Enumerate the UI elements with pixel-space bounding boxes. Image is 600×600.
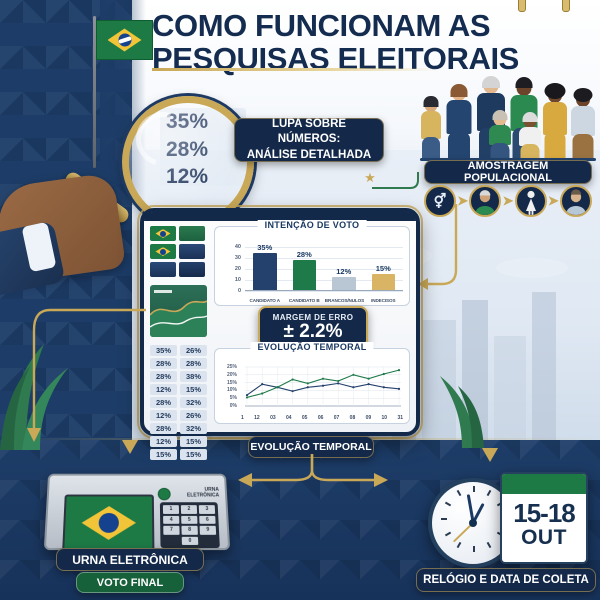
data-point [246,394,248,396]
line-x-tick: 04 [286,415,292,421]
thumbnail-dark-1[interactable] [179,262,205,277]
arrow-down-clock [478,448,502,474]
table-cell: 28% [150,397,177,408]
clock-tick [487,490,492,496]
bar-category-label: CANDIDATO B [285,298,323,303]
data-table: 35% 26% 28% 28% 28% 38% 12% 15% 28% 32% … [150,345,208,460]
urna-key[interactable]: 0 [182,536,199,545]
line-chart-y-tick: 10% [217,387,237,393]
urna-flag-globe [98,513,118,533]
data-point [398,369,400,371]
urna-key[interactable]: 9 [200,526,217,535]
urna-key[interactable]: 7 [163,526,179,535]
bar-chart-card: INTENÇÃO DE VOTO 010203040 35%28%12%15% … [214,226,410,306]
bar-category-label: INDECISOS [364,298,402,303]
line-x-tick: 12 [254,415,260,421]
clock-tick [441,518,447,520]
table-cell: 28% [150,371,177,382]
urna-key[interactable]: 3 [199,505,215,513]
data-point [261,383,263,385]
data-point [307,382,309,384]
data-point [261,392,263,394]
data-point [322,378,324,380]
bar-category-label: CANDIDATO A [246,298,284,303]
bar-value-label: 28% [297,250,312,259]
thumbnail-navy-1[interactable] [179,244,205,259]
line-x-tick: 03 [270,415,276,421]
line-chart-title: EVOLUÇÃO TEMPORAL [250,342,373,352]
connector-magnifier-to-sampling [370,168,436,194]
callout-magnifier-line-2: ANÁLISE DETALHADA [247,148,371,164]
electronic-voting-machine: URNA ELETRÔNICA 1234567890 [40,462,230,550]
arrow-sampling-to-tablet [416,200,460,296]
bar-chart-y-tick: 10 [223,277,241,283]
bar-chart-y-tick: 20 [223,266,241,272]
clock-tick [445,502,451,507]
data-point [352,386,354,388]
bar [372,274,396,290]
thumbnail-green-1[interactable] [179,226,205,241]
bar-series: 35%28%12%15% [245,242,403,291]
bar-chart-y-tick: 40 [223,244,241,250]
clock-tick [487,542,492,548]
line-x-tick: 08 [350,415,356,421]
data-point [276,386,278,388]
bar [293,260,317,290]
bar-item: 12% [325,242,363,290]
data-point [292,390,294,392]
sampling-arrow-3: ➤ [548,193,559,209]
table-cell: 15% [150,449,177,460]
line-chart-card: EVOLUÇÃO TEMPORAL 0%5%10%15%20%25% 11203… [214,348,410,424]
bar-item: 28% [285,242,323,290]
urna-brand-line-2: ELETRÔNICA [160,493,220,499]
bar-value-label: 15% [376,264,391,273]
person-2 [446,86,472,160]
gridline [245,291,403,292]
calendar-ring-right [562,0,570,12]
population-group-illustration [420,72,596,160]
bar-category-label: BRANCOS/NULOS [325,298,363,303]
thumbnail-grid [150,226,208,277]
line-chart-plot: 0%5%10%15%20%25% [241,363,403,410]
data-point [337,382,339,384]
brazil-flag-icon [96,20,153,60]
data-point [368,378,370,380]
urna-key[interactable]: 6 [199,515,215,523]
callout-voto-final-label: VOTO FINAL [97,577,163,589]
bar-chart-title: INTENÇÃO DE VOTO [258,220,367,230]
table-cell: 26% [180,410,207,421]
urna-key[interactable]: 1 [163,505,179,513]
line-chart-y-tick: 15% [217,380,237,386]
data-point [352,374,354,376]
callout-voto-final: VOTO FINAL [76,572,184,593]
calendar-ring-left [518,0,526,12]
data-point [292,378,294,380]
line-chart-x-labels: 112030405060708091031 [241,415,403,421]
calendar-icon: 15-18 OUT [500,472,588,564]
line-x-tick: 31 [397,415,403,421]
line-chart-svg [241,363,403,410]
calendar-header [502,474,586,494]
table-cell: 38% [180,371,207,382]
line-chart-y-tick: 20% [217,372,237,378]
arrow-tablet-to-urna [20,300,150,460]
table-cell: 35% [150,345,177,356]
callout-clock: RELÓGIO E DATA DE COLETA [416,568,596,592]
urna-body: URNA ELETRÔNICA 1234567890 [44,474,230,550]
clock-center-pin [469,519,477,527]
child-1 [488,112,512,160]
urna-keypad[interactable]: 1234567890 [160,502,220,548]
table-cell: 15% [180,436,207,447]
child-2 [518,114,542,160]
bar-chart-y-tick: 0 [223,288,241,294]
callout-magnifier-line-1: LUPA SOBRE NÚMEROS: [241,117,377,148]
page-title: COMO FUNCIONAM AS PESQUISAS ELEITORAIS [152,10,592,76]
line-chart-y-tick: 5% [217,395,237,401]
line-x-tick: 06 [318,415,324,421]
bar-item: 35% [246,242,284,290]
clock-tick [457,542,462,548]
clock-tick [445,532,451,537]
data-point [337,380,339,382]
bar-chart-y-tick: 30 [223,255,241,261]
table-cell: 28% [180,358,207,369]
line-x-tick: 1 [241,415,244,421]
thumbnail-navy-2[interactable] [150,262,176,277]
title-line-1: COMO FUNCIONAM AS [152,10,592,43]
bar-chart-category-labels: CANDIDATO ACANDIDATO BBRANCOS/NULOSINDEC… [245,298,403,303]
person-avatar-icon [560,185,592,217]
bar-chart-plot: 010203040 35%28%12%15% [245,242,403,291]
calendar-month: OUT [502,527,586,548]
urna-key[interactable]: 2 [181,505,197,513]
clock-tick [473,486,475,492]
title-underline [152,68,440,71]
table-cell: 28% [150,423,177,434]
data-point [383,386,385,388]
callout-sampling-label: AMOSTRAGEM POPULACIONAL [425,160,591,184]
table-cell: 26% [180,345,207,356]
thumbnail-flag-2[interactable] [150,244,176,259]
table-cell: 12% [150,410,177,421]
callout-magnifier: LUPA SOBRE NÚMEROS: ANÁLISE DETALHADA [234,118,384,162]
arrow-tablet-to-clock [238,452,388,492]
person-1 [420,98,442,160]
line-chart-y-tick: 0% [217,403,237,409]
bar [253,253,277,290]
table-cell: 32% [180,423,207,434]
line-x-tick: 10 [382,415,388,421]
table-cell: 15% [180,384,207,395]
table-cell: 15% [180,449,207,460]
callout-urna-label: URNA ELETRÔNICA [72,553,188,567]
clock-tick [457,490,462,496]
data-point [322,385,324,387]
data-point [383,373,385,375]
sampling-arrow-2: ➤ [503,193,514,209]
woman-figure-icon [515,185,547,217]
person-5 [542,86,568,160]
line-chart-y-tick: 25% [217,364,237,370]
bar [332,277,356,290]
line-x-tick: 05 [302,415,308,421]
table-cell: 12% [150,384,177,395]
table-cell: 32% [180,397,207,408]
bar-value-label: 35% [257,243,272,252]
person-6 [570,90,596,160]
data-point [307,386,309,388]
plant-leaves-right-icon [414,352,484,448]
urna-screen [62,495,154,553]
callout-sampling: AMOSTRAGEM POPULACIONAL [424,160,592,184]
data-point [246,396,248,398]
margin-of-error-value: ± 2.2% [283,322,342,342]
calendar-text: 15-18 OUT [502,499,586,548]
wave-chart-thumbnail[interactable] [150,285,207,337]
urna-brand-label: URNA ELETRÔNICA [160,488,220,499]
data-point [398,388,400,390]
urna-key[interactable]: 4 [163,515,179,523]
table-cell: 12% [150,436,177,447]
calendar-day-range: 15-18 [502,499,586,527]
urna-key[interactable]: 5 [181,515,197,523]
urna-key[interactable]: 8 [181,526,197,535]
tablet-sidebar: 35% 26% 28% 28% 28% 38% 12% 15% 28% 32% … [150,226,208,426]
bar-item: 15% [364,242,402,290]
callout-urna: URNA ELETRÔNICA [56,548,204,571]
data-point [368,383,370,385]
table-cell: 28% [150,358,177,369]
line-x-tick: 09 [366,415,372,421]
bar-value-label: 12% [336,267,351,276]
line-x-tick: 07 [334,415,340,421]
clock-tick [473,546,475,552]
infographic-root: COMO FUNCIONAM AS PESQUISAS ELEITORAIS 3… [0,0,600,600]
thumbnail-flag-1[interactable] [150,226,176,241]
elderly-man-avatar-icon [469,185,501,217]
callout-clock-label: RELÓGIO E DATA DE COLETA [423,574,589,586]
